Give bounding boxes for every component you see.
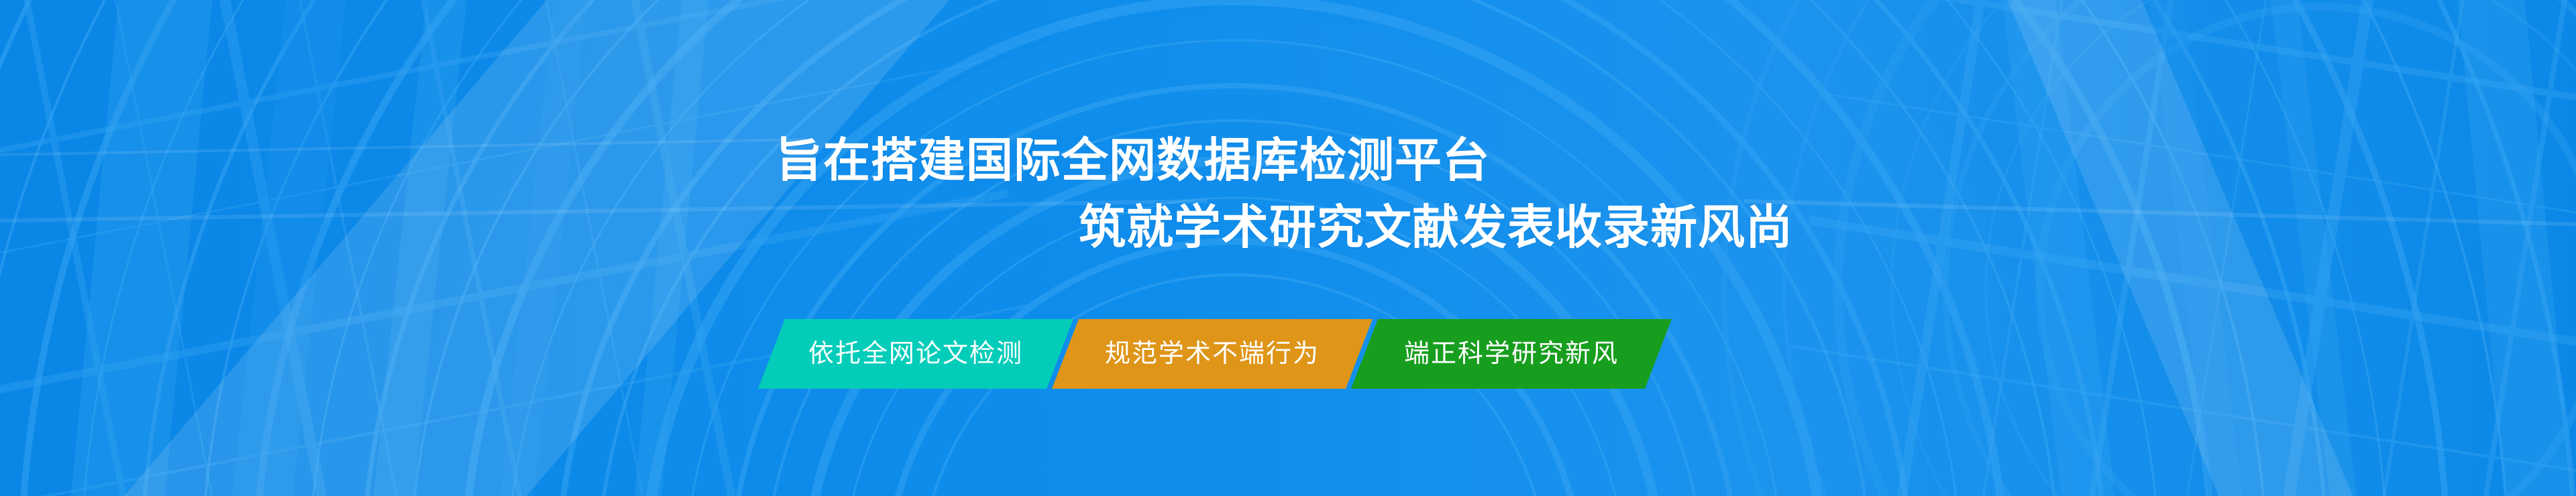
- feature-tag-strip: 依托全网论文检测 规范学术不端行为 端正科学研究新风: [771, 319, 1658, 389]
- background-decoration: [0, 0, 2576, 496]
- feature-tag-label: 端正科学研究新风: [1404, 341, 1619, 367]
- feature-tag-misconduct-regulation[interactable]: 规范学术不端行为: [1052, 319, 1373, 389]
- feature-tag-label: 依托全网论文检测: [808, 341, 1023, 367]
- feature-tag-paper-detection[interactable]: 依托全网论文检测: [758, 319, 1073, 389]
- feature-tag-label: 规范学术不端行为: [1105, 341, 1320, 367]
- promo-banner: 旨在搭建国际全网数据库检测平台 筑就学术研究文献发表收录新风尚 依托全网论文检测…: [0, 0, 2576, 496]
- feature-tag-research-ethos[interactable]: 端正科学研究新风: [1351, 319, 1672, 389]
